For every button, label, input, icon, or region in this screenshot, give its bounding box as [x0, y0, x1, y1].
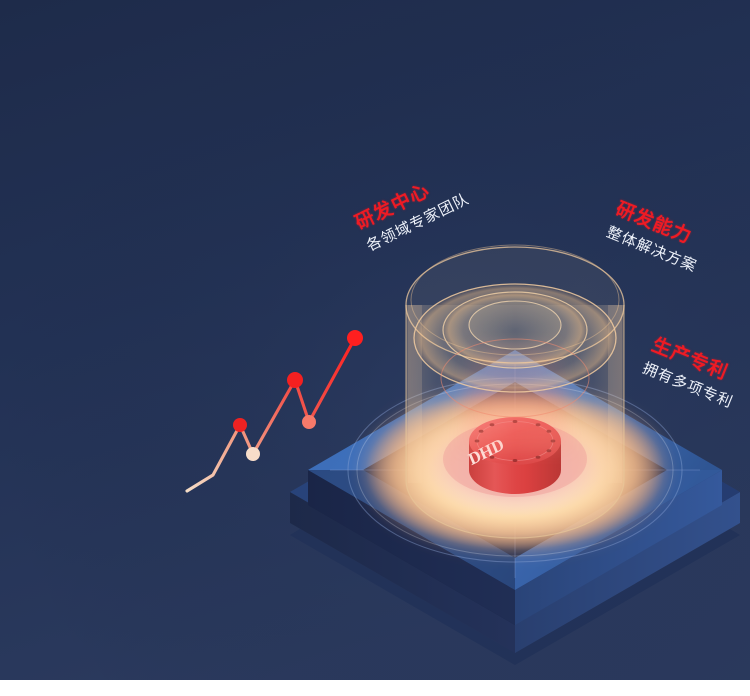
illustration-stage: DHD	[0, 0, 750, 696]
chart-marker-2	[233, 418, 247, 432]
chart-marker-6	[347, 330, 363, 346]
chart-marker-4	[287, 372, 303, 388]
chart-marker-5	[302, 415, 316, 429]
chart-marker-3	[246, 447, 260, 461]
isometric-scene: DHD	[0, 0, 750, 696]
